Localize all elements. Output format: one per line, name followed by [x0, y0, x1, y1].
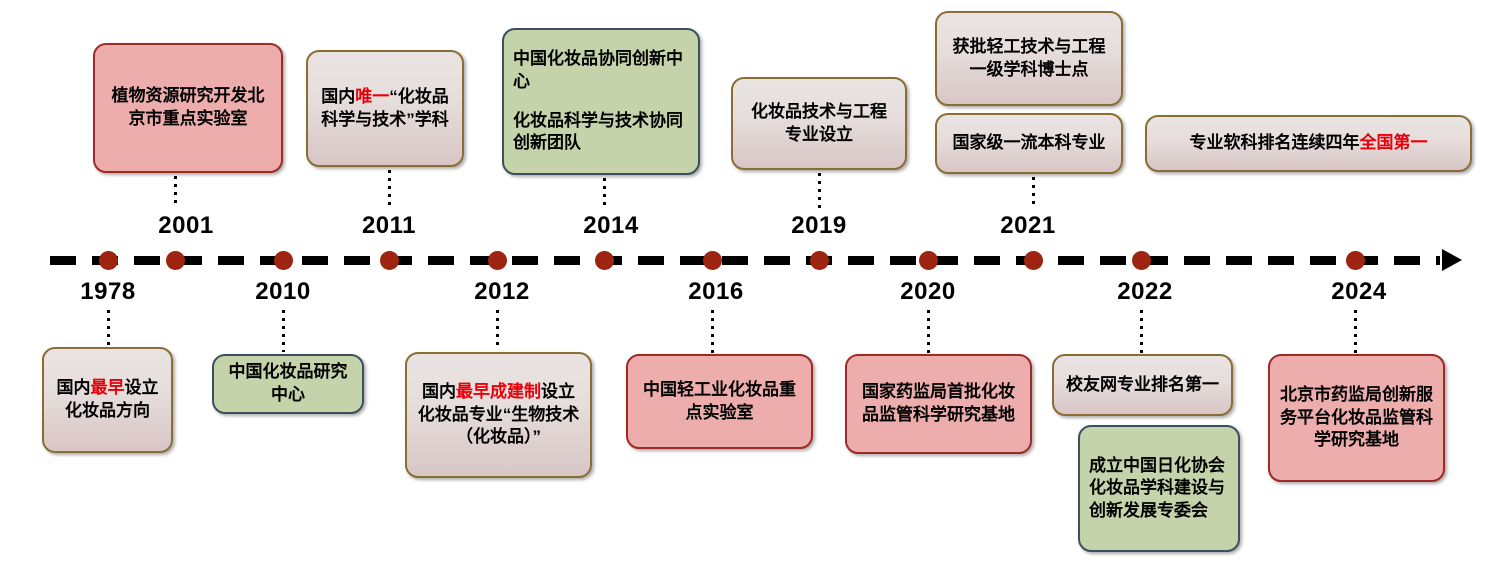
connector-2022: [1140, 310, 1143, 354]
event-box-2012[interactable]: 国内最早成建制设立化妆品专业“生物技术（化妆品）”: [405, 352, 592, 478]
event-text-1978-pre: 国内: [57, 378, 91, 397]
event-text-1978: 国内最早设立化妆品方向: [53, 377, 162, 422]
event-box-2022-alumni[interactable]: 校友网专业排名第一: [1052, 354, 1233, 416]
event-box-ranking[interactable]: 专业软科排名连续四年全国第一: [1145, 115, 1472, 172]
connector-2019: [818, 173, 821, 208]
event-box-2024[interactable]: 北京市药监局创新服务平台化妆品监管科学研究基地: [1268, 354, 1445, 482]
year-label-2019: 2019: [791, 212, 846, 240]
event-box-2021-firstclass[interactable]: 国家级一流本科专业: [935, 113, 1123, 174]
event-text-2021-doctoral: 获批轻工技术与工程一级学科博士点: [946, 36, 1112, 81]
year-label-2020: 2020: [900, 278, 955, 306]
event-text-2012: 国内最早成建制设立化妆品专业“生物技术（化妆品）”: [416, 381, 581, 449]
event-text-2014-line2: 化妆品科学与技术协同创新团队: [513, 110, 689, 155]
connector-2024: [1354, 310, 1357, 354]
connector-2020: [927, 310, 930, 354]
event-text-2016: 中国轻工业化妆品重点实验室: [637, 379, 802, 424]
event-text-2019: 化妆品技术与工程 专业设立: [742, 101, 896, 146]
connector-2011: [388, 170, 391, 208]
year-label-2016: 2016: [688, 278, 743, 306]
event-text-ranking-highlight: 全国第一: [1360, 133, 1428, 152]
event-box-2001[interactable]: 植物资源研究开发北京市重点实验室: [93, 43, 283, 173]
event-text-2011-pre: 国内: [321, 87, 355, 106]
year-label-2022: 2022: [1117, 278, 1172, 306]
year-label-1978: 1978: [80, 278, 135, 306]
event-text-ranking: 专业软科排名连续四年全国第一: [1190, 132, 1428, 155]
event-text-2021-firstclass: 国家级一流本科专业: [953, 132, 1106, 155]
timeline-marker-2022[interactable]: [1132, 251, 1151, 270]
event-box-2019[interactable]: 化妆品技术与工程 专业设立: [731, 77, 907, 170]
timeline-marker-2020[interactable]: [919, 251, 938, 270]
event-text-2024: 北京市药监局创新服务平台化妆品监管科学研究基地: [1279, 384, 1434, 452]
connector-2001: [174, 176, 177, 208]
timeline-marker-2011[interactable]: [380, 251, 399, 270]
event-text-2022-alumni: 校友网专业排名第一: [1066, 374, 1219, 397]
event-box-2014[interactable]: 中国化妆品协同创新中心 化妆品科学与技术协同创新团队: [502, 28, 700, 175]
event-text-2011: 国内唯一“化妆品科学与技术”学科: [317, 86, 453, 131]
year-label-2011: 2011: [362, 212, 416, 240]
event-box-2016[interactable]: 中国轻工业化妆品重点实验室: [626, 354, 813, 449]
timeline-marker-2019[interactable]: [810, 251, 829, 270]
year-label-2001: 2001: [158, 212, 213, 240]
event-text-2020: 国家药监局首批化妆品监管科学研究基地: [856, 381, 1021, 426]
event-box-2021-doctoral[interactable]: 获批轻工技术与工程一级学科博士点: [935, 11, 1123, 106]
timeline-marker-2010[interactable]: [274, 251, 293, 270]
connector-2010: [282, 310, 285, 352]
timeline-arrow-icon: [1442, 249, 1462, 271]
timeline-marker-2021[interactable]: [1024, 251, 1043, 270]
year-label-2021: 2021: [1000, 212, 1055, 240]
event-box-2020[interactable]: 国家药监局首批化妆品监管科学研究基地: [845, 354, 1032, 454]
event-text-2014-line1: 中国化妆品协同创新中心: [513, 48, 689, 93]
timeline-axis: [50, 256, 1440, 265]
event-text-2001: 植物资源研究开发北京市重点实验室: [104, 85, 272, 130]
event-text-2012-pre: 国内: [422, 382, 456, 401]
connector-1978: [107, 310, 110, 348]
connector-2021: [1032, 177, 1035, 208]
connector-2014: [603, 178, 606, 208]
timeline-marker-2012[interactable]: [488, 251, 507, 270]
timeline-marker-2014[interactable]: [595, 251, 614, 270]
timeline-marker-1978[interactable]: [99, 251, 118, 270]
connector-2012: [496, 310, 499, 350]
event-text-2011-highlight: 唯一: [355, 87, 389, 106]
timeline-diagram: 植物资源研究开发北京市重点实验室 国内唯一“化妆品科学与技术”学科 中国化妆品协…: [0, 0, 1496, 580]
event-text-1978-highlight: 最早: [91, 378, 125, 397]
event-box-2010[interactable]: 中国化妆品研究中心: [212, 354, 364, 414]
event-box-2011[interactable]: 国内唯一“化妆品科学与技术”学科: [306, 50, 464, 167]
event-text-2022-committee: 成立中国日化协会化妆品学科建设与创新发展专委会: [1089, 455, 1229, 523]
event-text-2010: 中国化妆品研究中心: [223, 361, 353, 406]
timeline-marker-2001[interactable]: [166, 251, 185, 270]
event-box-1978[interactable]: 国内最早设立化妆品方向: [42, 347, 173, 453]
year-label-2012: 2012: [474, 278, 529, 306]
timeline-marker-2024[interactable]: [1346, 251, 1365, 270]
year-label-2014: 2014: [583, 212, 638, 240]
timeline-marker-2016[interactable]: [703, 251, 722, 270]
event-text-ranking-pre: 专业软科排名连续四年: [1190, 133, 1360, 152]
year-label-2024: 2024: [1331, 278, 1386, 306]
year-label-2010: 2010: [255, 278, 310, 306]
event-text-2012-highlight: 最早成建制: [456, 382, 541, 401]
event-box-2022-committee[interactable]: 成立中国日化协会化妆品学科建设与创新发展专委会: [1078, 425, 1240, 552]
connector-2016: [711, 310, 714, 354]
